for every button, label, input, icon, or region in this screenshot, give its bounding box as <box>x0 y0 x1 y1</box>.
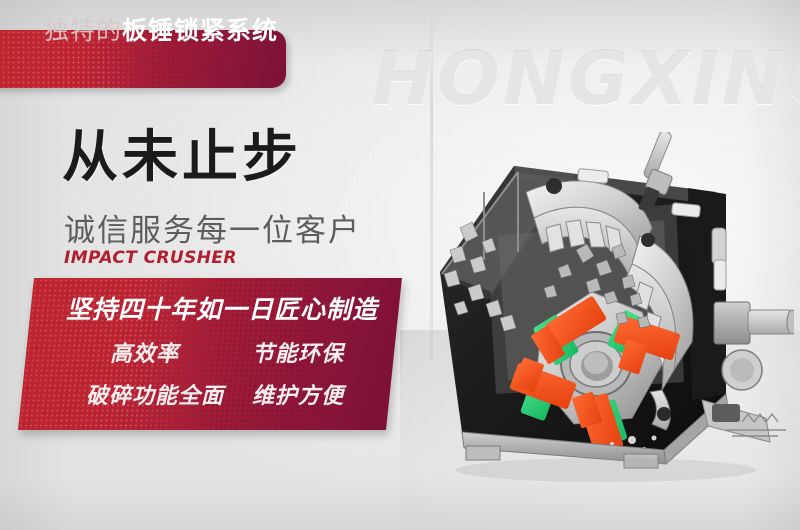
impact-crusher-illustration <box>426 132 794 482</box>
product-name-english: IMPACT CRUSHER <box>64 248 237 268</box>
headline-title: 从未止步 <box>62 112 302 193</box>
hydraulic-cylinder <box>712 228 726 264</box>
ribbon-text-group: 独特的 板锤锁紧系统 <box>44 0 278 58</box>
feature-panel-title: 坚持四十年如一日匠心制造 <box>66 290 378 326</box>
drive-shaft-assembly <box>714 302 794 344</box>
promo-banner: HONGXING 独特的 板锤锁紧系统 从未止步 诚信服务每一位客户 IMPAC… <box>0 0 800 530</box>
feature-item-0: 高效率 <box>110 336 179 368</box>
brand-watermark: HONGXING <box>372 36 800 122</box>
feature-item-3: 维护方便 <box>252 378 344 410</box>
machine-contact-shadow <box>456 458 756 482</box>
feature-item-1: 节能环保 <box>252 336 344 368</box>
feature-panel-content: 坚持四十年如一日匠心制造 高效率 节能环保 破碎功能全面 维护方便 <box>26 278 394 430</box>
ribbon-lead-text: 独特的 <box>44 11 122 47</box>
ribbon-strong-text: 板锤锁紧系统 <box>122 11 278 47</box>
feature-item-2: 破碎功能全面 <box>86 378 224 410</box>
headline-subtitle: 诚信服务每一位客户 <box>64 205 361 250</box>
feature-panel: 坚持四十年如一日匠心制造 高效率 节能环保 破碎功能全面 维护方便 <box>18 278 402 430</box>
